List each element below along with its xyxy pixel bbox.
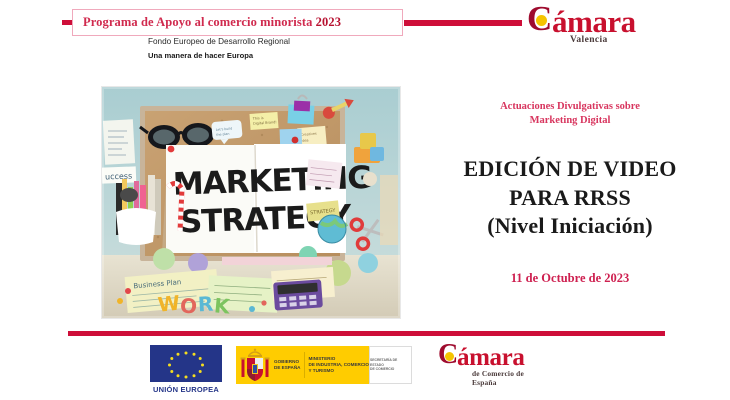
header-subtitle-slogan: Una manera de hacer Europa bbox=[148, 51, 253, 60]
eu-stars-icon bbox=[150, 345, 222, 382]
camara-foot-text: ámara bbox=[457, 345, 524, 370]
poster-page: Programa de Apoyo al comercio minorista … bbox=[0, 0, 730, 400]
event-title-line3: (Nivel Iniciación) bbox=[420, 212, 720, 240]
spain-coat-of-arms-icon bbox=[240, 348, 270, 382]
svg-text:idea: idea bbox=[301, 138, 309, 143]
camara-foot-wordmark: C ámara bbox=[438, 345, 524, 370]
camara-c-icon: C bbox=[527, 6, 553, 36]
secretaria-text: SECRETARÍA DE ESTADO DE COMERCIO bbox=[370, 358, 411, 372]
camara-logo-text: ámara bbox=[552, 6, 636, 37]
event-title-line2: PARA RRSS bbox=[420, 184, 720, 212]
secretaria-line1: SECRETARÍA DE ESTADO bbox=[370, 358, 411, 368]
page-footer: UNIÓN EUROPEA bbox=[0, 340, 730, 400]
gobierno-yellow-block: GOBIERNO DE ESPAÑA MINISTERIO DE INDUSTR… bbox=[236, 346, 369, 384]
ministerio-line3: Y TURISMO bbox=[309, 368, 370, 374]
photo-illustration: uccess This isDigital Brand! Creati bbox=[102, 87, 400, 318]
camara-foot-c-icon: C bbox=[438, 345, 458, 369]
event-kicker-line2: Marketing Digital bbox=[420, 114, 720, 128]
ministerio-text: MINISTERIO DE INDUSTRIA, COMERCIO Y TURI… bbox=[309, 356, 370, 375]
event-kicker: Actuaciones Divulgativas sobre Marketing… bbox=[420, 100, 720, 128]
event-title-line1: EDICIÓN DE VIDEO bbox=[420, 155, 720, 183]
secretaria-line2: DE COMERCIO bbox=[370, 367, 411, 372]
svg-text:MARKETING: MARKETING bbox=[172, 160, 372, 203]
camara-yellow-dot-icon bbox=[536, 15, 547, 26]
header-right-bar bbox=[404, 20, 522, 26]
camara-foot-yellow-dot-icon bbox=[445, 352, 454, 361]
camara-valencia-logo: C ámara Valencia bbox=[527, 6, 677, 46]
svg-text:uccess: uccess bbox=[105, 172, 132, 182]
event-date: 11 de Octubre de 2023 bbox=[420, 271, 720, 286]
camara-logo-subtext: Valencia bbox=[570, 35, 608, 45]
camara-foot-subtext: de Comercio de España bbox=[472, 369, 524, 387]
eu-label: UNIÓN EUROPEA bbox=[150, 385, 222, 394]
page-header: Programa de Apoyo al comercio minorista … bbox=[0, 0, 730, 70]
marketing-strategy-photo: uccess This isDigital Brand! Creati bbox=[102, 87, 400, 318]
gobierno-espana-logo: GOBIERNO DE ESPAÑA MINISTERIO DE INDUSTR… bbox=[236, 346, 412, 384]
eu-flag-icon bbox=[150, 345, 222, 382]
camara-logo-wordmark: C ámara bbox=[527, 6, 677, 37]
program-title: Programa de Apoyo al comercio minorista … bbox=[73, 15, 341, 30]
footer-divider bbox=[68, 331, 665, 336]
program-title-box: Programa de Apoyo al comercio minorista … bbox=[72, 9, 403, 36]
camara-espana-logo: C ámara de Comercio de España bbox=[438, 345, 524, 370]
gobierno-line2: DE ESPAÑA bbox=[274, 365, 300, 371]
program-title-text: Programa de Apoyo al comercio minorista bbox=[83, 15, 316, 29]
svg-text:W: W bbox=[157, 291, 181, 317]
svg-text:R: R bbox=[197, 292, 214, 317]
svg-text:O: O bbox=[179, 293, 198, 318]
secretaria-estado-block: SECRETARÍA DE ESTADO DE COMERCIO bbox=[369, 346, 412, 384]
gobierno-text: GOBIERNO DE ESPAÑA bbox=[274, 359, 300, 371]
event-kicker-line1: Actuaciones Divulgativas sobre bbox=[420, 100, 720, 114]
header-subtitle-feder: Fondo Europeo de Desarrollo Regional bbox=[148, 37, 290, 46]
event-title: EDICIÓN DE VIDEO PARA RRSS (Nivel Inicia… bbox=[420, 155, 720, 239]
svg-text:This is: This is bbox=[252, 116, 264, 121]
event-info-column: Actuaciones Divulgativas sobre Marketing… bbox=[420, 100, 720, 286]
european-union-logo: UNIÓN EUROPEA bbox=[150, 345, 222, 394]
program-title-year: 2023 bbox=[316, 15, 341, 29]
